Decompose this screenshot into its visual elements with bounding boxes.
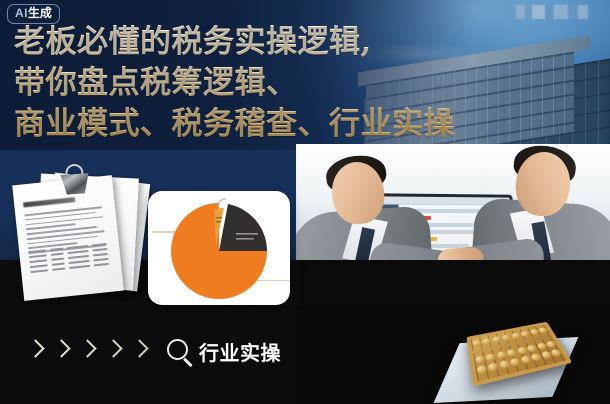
binder-clip-icon (57, 165, 93, 197)
poster-canvas: 老板必懂的税务实操逻辑, 带你盘点税筹逻辑、 商业模式、税务稽查、行业实操 AI… (0, 0, 610, 404)
document-table (28, 243, 114, 291)
pie-chart-svg (156, 193, 282, 303)
headline-line-1: 老板必懂的税务实操逻辑, (14, 22, 574, 63)
ai-badge-prefix: AI (15, 6, 28, 20)
ai-badge-suffix: 生成 (28, 6, 52, 20)
binder-clip-body (61, 173, 90, 195)
ai-generated-badge: AI生成 (7, 4, 60, 24)
chevron-right-icon (80, 340, 93, 362)
abacus-group (462, 318, 570, 398)
pie-chart-card (148, 191, 290, 305)
search-icon (166, 338, 196, 368)
search-tag: 行业实操 (166, 338, 281, 368)
chevron-right-icon (132, 340, 145, 362)
chevron-right-icon (28, 340, 41, 362)
blurred-watermark (516, 5, 588, 19)
headline: 老板必懂的税务实操逻辑, 带你盘点税筹逻辑、 商业模式、税务稽查、行业实操 (14, 22, 574, 145)
headline-line-3: 商业模式、税务稽查、行业实操 (14, 104, 574, 145)
search-tag-label: 行业实操 (199, 342, 281, 364)
headline-line-2: 带你盘点税筹逻辑、 (14, 63, 574, 104)
chevron-arrows (28, 340, 145, 362)
chevron-right-icon (106, 340, 119, 362)
document-title-line (23, 197, 75, 207)
document-stack (4, 168, 152, 298)
chevron-right-icon (54, 340, 67, 362)
